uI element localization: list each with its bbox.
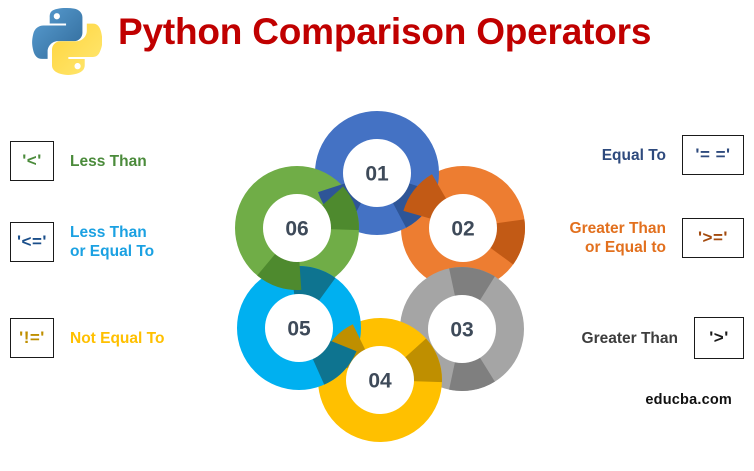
ring-overlap-shade (501, 221, 510, 255)
legend-label-greater-than: Greater Than (582, 329, 678, 348)
legend-label-equal-to: Equal To (602, 146, 666, 165)
operator-symbol-greater-than: '>' (694, 317, 744, 359)
legend-item-greater-than-or-equal-to: Greater Than or Equal to '>=' (570, 218, 744, 258)
ring-number-03: 03 (450, 319, 473, 342)
operator-symbol-less-than-or-equal-to: '<=' (10, 222, 54, 262)
legend-item-less-than: '<' Less Than (10, 141, 147, 181)
operator-symbol-greater-than-or-equal-to: '>=' (682, 218, 744, 258)
operator-symbol-less-than: '<' (10, 141, 54, 181)
brand-watermark: educba.com (645, 392, 732, 408)
ring-overlap-shade (332, 197, 344, 230)
ring-number-04: 04 (368, 370, 392, 393)
legend-label-not-equal-to: Not Equal To (70, 329, 164, 348)
legend-item-equal-to: Equal To '= =' (602, 135, 744, 175)
ring-number-05: 05 (287, 318, 311, 341)
python-logo (30, 4, 102, 76)
legend-label-greater-than-or-equal-to: Greater Than or Equal to (570, 219, 666, 257)
legend-item-not-equal-to: '!=' Not Equal To (10, 318, 164, 358)
legend-label-less-than: Less Than (70, 152, 147, 171)
legend-item-less-than-or-equal-to: '<=' Less Than or Equal To (10, 222, 154, 262)
ring-number-01: 01 (365, 163, 389, 186)
operator-symbol-not-equal-to: '!=' (10, 318, 54, 358)
ring-overlap-shade (452, 282, 487, 289)
ring-number-02: 02 (451, 218, 474, 241)
ring-overlap-shade (452, 369, 487, 376)
operator-symbol-equal-to: '= =' (682, 135, 744, 175)
ring-number-06: 06 (285, 218, 308, 241)
ring-overlap-shade (267, 264, 300, 275)
interlocking-rings-diagram: 010203040506 (212, 88, 550, 420)
ring-overlap-shade (415, 349, 427, 382)
header: Python Comparison Operators (0, 0, 754, 82)
page-title: Python Comparison Operators (118, 6, 651, 58)
legend-item-greater-than: Greater Than '>' (582, 317, 744, 359)
legend-label-less-than-or-equal-to: Less Than or Equal To (70, 223, 154, 261)
